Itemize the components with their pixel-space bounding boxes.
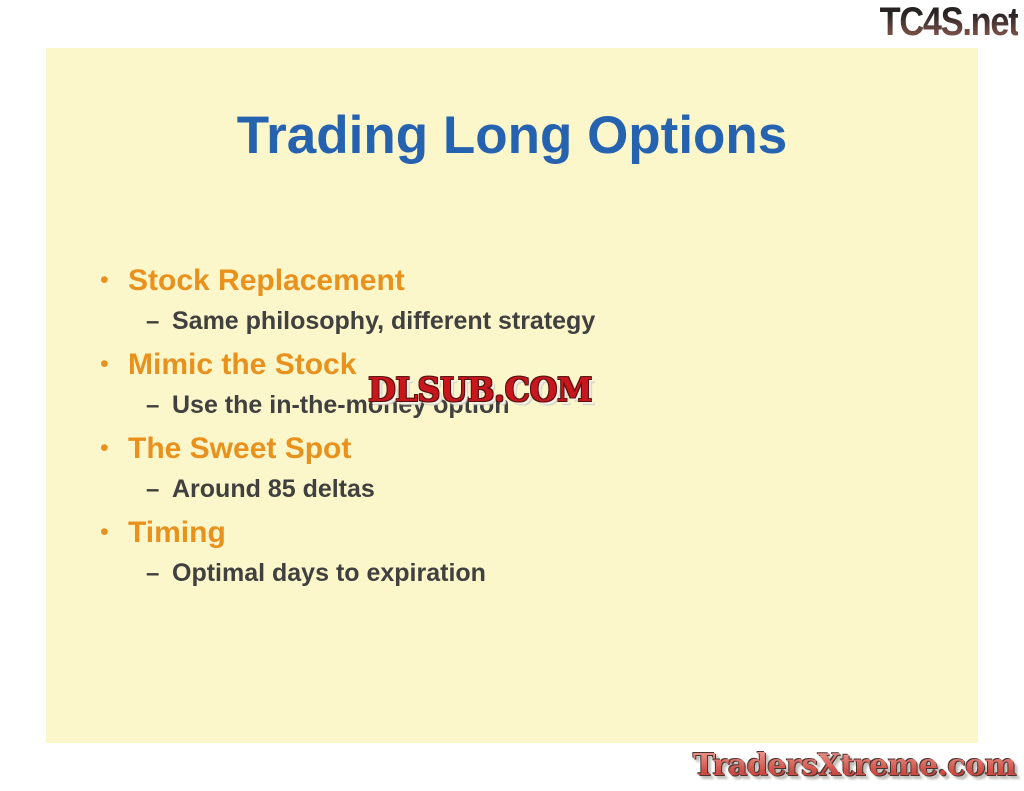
watermark-dlsub: DLSUB.COM	[368, 371, 592, 409]
sub-bullet-label: Optimal days to expiration	[172, 553, 486, 594]
sub-list-item: – Optimal days to expiration	[94, 553, 944, 594]
bullet-dot-icon: •	[94, 344, 128, 385]
list-item: • The Sweet Spot	[94, 428, 944, 469]
bullet-label: Timing	[128, 512, 226, 553]
footer-logo-tradersxtreme: TradersXtreme.com	[693, 747, 1016, 785]
bullet-label: Mimic the Stock	[128, 344, 356, 385]
bullet-dot-icon: •	[94, 512, 128, 553]
bullet-dot-icon: •	[94, 428, 128, 469]
site-logo-tc4s: TC4S.net	[879, 0, 1018, 46]
bullet-label: Stock Replacement	[128, 260, 405, 301]
bullet-list: • Stock Replacement – Same philosophy, d…	[94, 260, 944, 596]
bullet-block: • Timing – Optimal days to expiration	[94, 512, 944, 594]
sub-list-item: – Same philosophy, different strategy	[94, 301, 944, 342]
bullet-block: • Stock Replacement – Same philosophy, d…	[94, 260, 944, 342]
dash-icon: –	[146, 385, 172, 426]
sub-list-item: – Around 85 deltas	[94, 469, 944, 510]
sub-bullet-label: Same philosophy, different strategy	[172, 301, 595, 342]
bullet-label: The Sweet Spot	[128, 428, 351, 469]
list-item: • Stock Replacement	[94, 260, 944, 301]
bullet-dot-icon: •	[94, 260, 128, 301]
page-title: Trading Long Options	[46, 106, 978, 166]
dash-icon: –	[146, 553, 172, 594]
bullet-block: • The Sweet Spot – Around 85 deltas	[94, 428, 944, 510]
dash-icon: –	[146, 469, 172, 510]
sub-bullet-label: Around 85 deltas	[172, 469, 375, 510]
list-item: • Timing	[94, 512, 944, 553]
dash-icon: –	[146, 301, 172, 342]
